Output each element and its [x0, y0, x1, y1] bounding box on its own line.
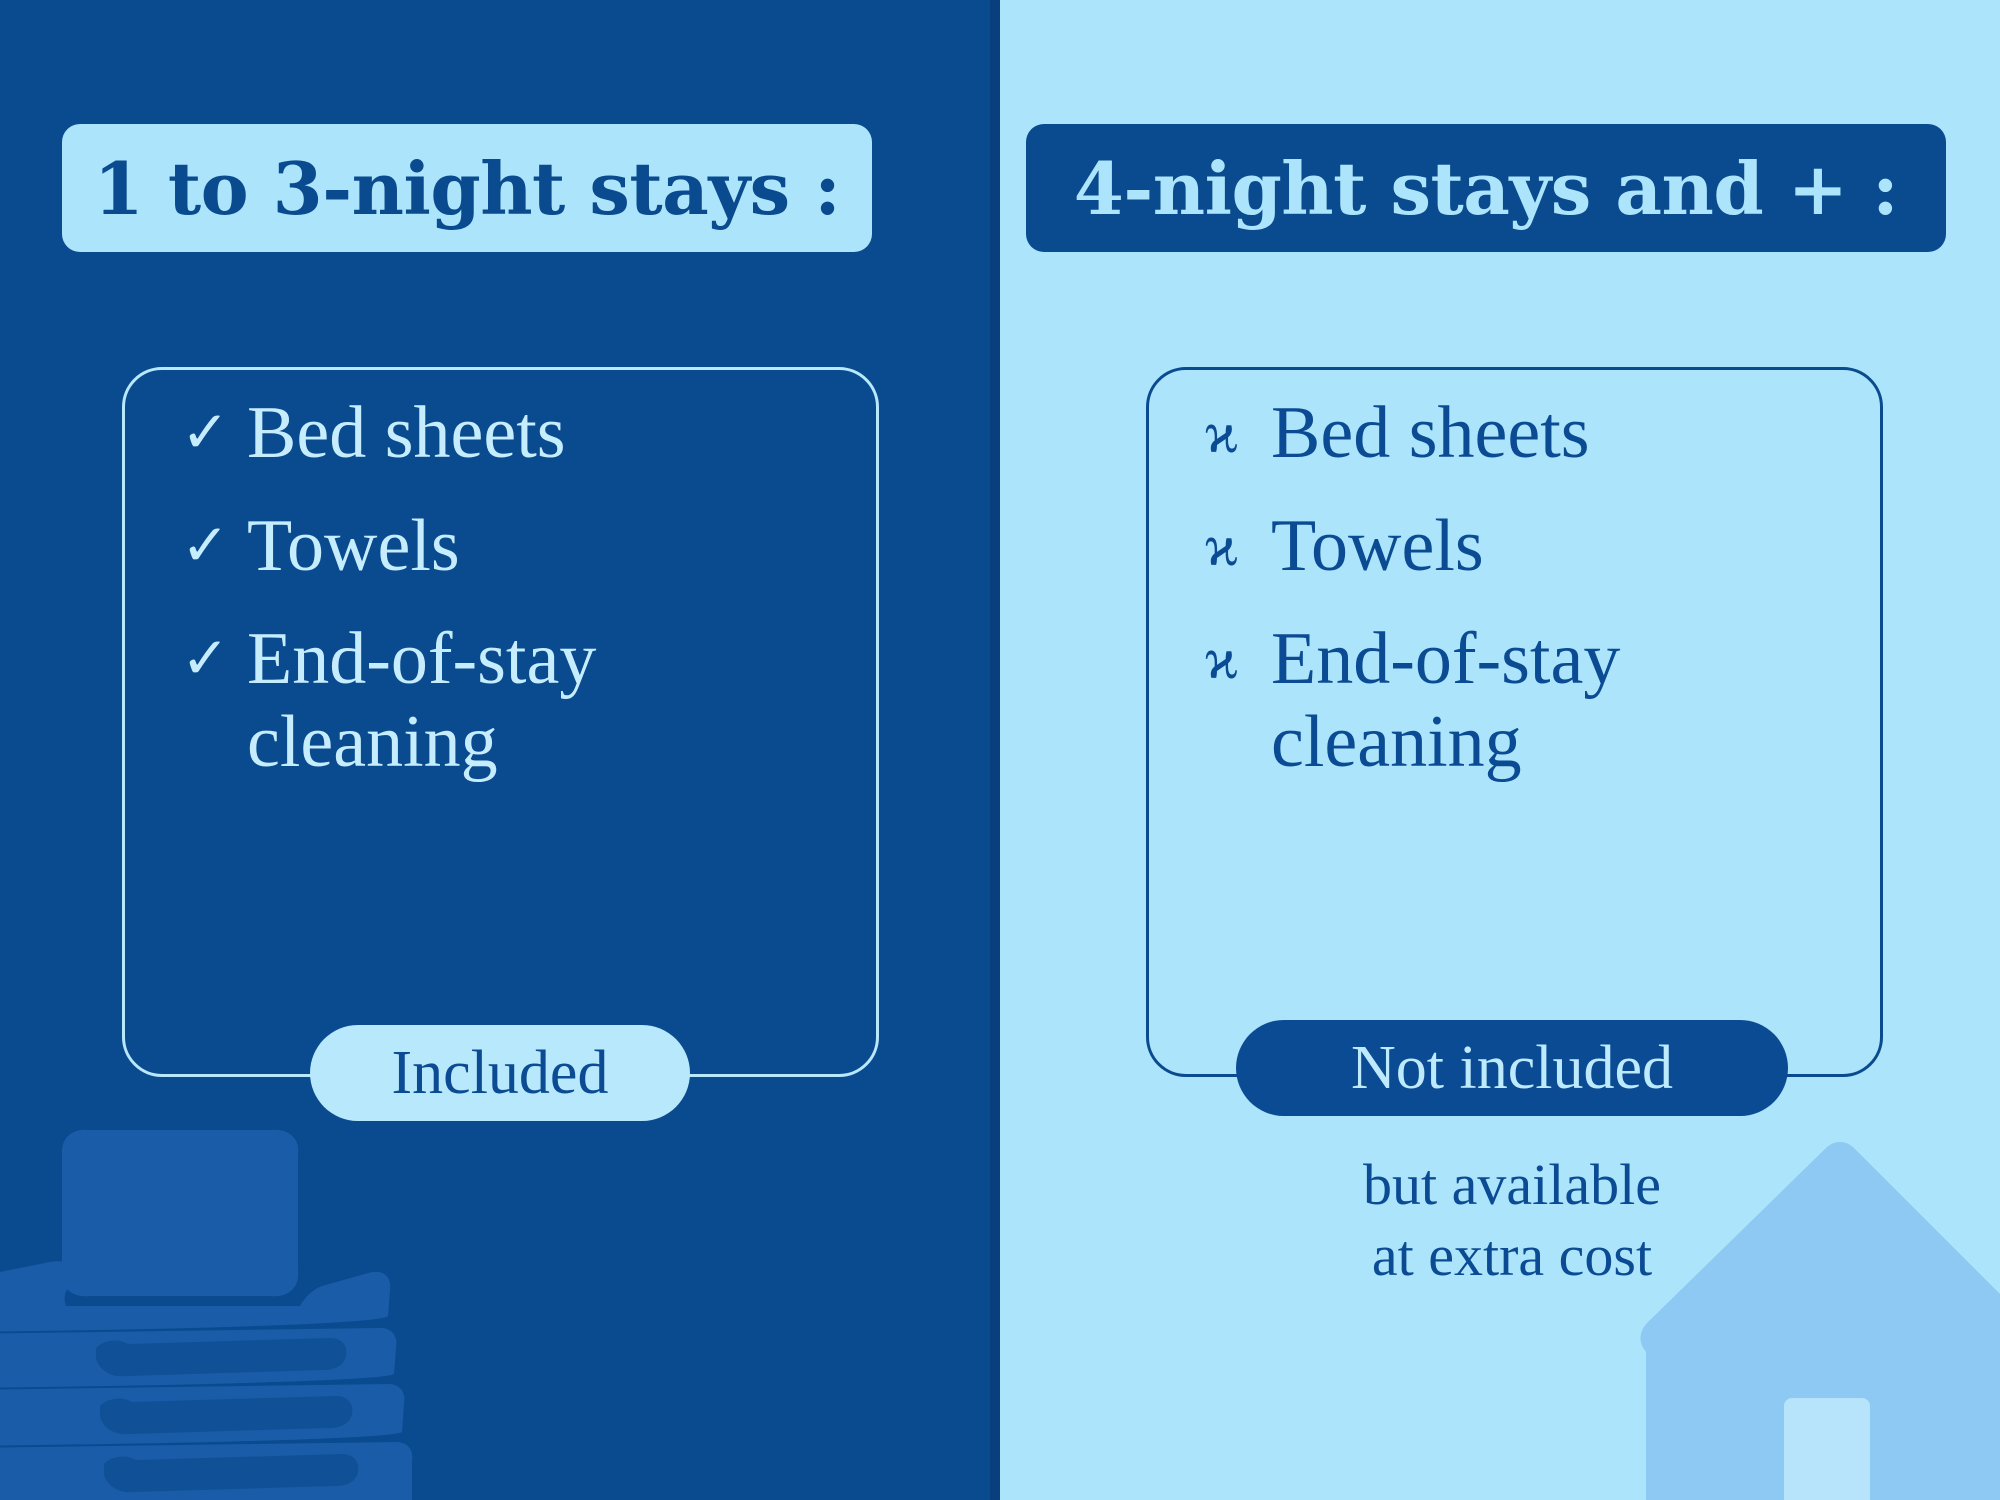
check-icon: ✓	[181, 392, 247, 474]
status-badge-not-included: Not included	[1236, 1020, 1788, 1116]
folded-linens-illustration	[0, 1120, 430, 1500]
status-badge-included: Included	[310, 1025, 690, 1121]
header-badge-short-stay: 1 to 3-night stays :	[62, 124, 872, 252]
list-item: ϰ Bed sheets	[1205, 392, 1850, 475]
list-item: ✓ Towels	[181, 505, 846, 588]
list-item-label: Bed sheets	[1271, 392, 1850, 475]
list-item-label: End-of-stay cleaning	[1271, 618, 1850, 784]
extra-cost-note: but available at extra cost	[1236, 1150, 1788, 1292]
check-icon: ✓	[181, 505, 247, 587]
cross-icon: ϰ	[1205, 505, 1271, 587]
list-item-label: Towels	[1271, 505, 1850, 588]
feature-list-short-stay: ✓ Bed sheets ✓ Towels ✓ End-of-stay clea…	[125, 392, 876, 814]
panel-long-stay: 4-night stays and + : ϰ Bed sheets ϰ Tow…	[1000, 0, 2000, 1500]
comparison-infographic: 1 to 3-night stays : ✓ Bed sheets ✓ Towe…	[0, 0, 2000, 1500]
list-item: ✓ End-of-stay cleaning	[181, 618, 846, 784]
list-item: ✓ Bed sheets	[181, 392, 846, 475]
list-item-label: Towels	[247, 505, 846, 588]
list-item: ϰ End-of-stay cleaning	[1205, 618, 1850, 784]
panel-divider	[990, 0, 1000, 1500]
cross-icon: ϰ	[1205, 392, 1271, 474]
feature-card-short-stay: ✓ Bed sheets ✓ Towels ✓ End-of-stay clea…	[122, 367, 879, 1077]
feature-card-long-stay: ϰ Bed sheets ϰ Towels ϰ End-of-stay clea…	[1146, 367, 1883, 1077]
panel-short-stay: 1 to 3-night stays : ✓ Bed sheets ✓ Towe…	[0, 0, 1000, 1500]
list-item-label: Bed sheets	[247, 392, 846, 475]
list-item-label: End-of-stay cleaning	[247, 618, 846, 784]
list-item: ϰ Towels	[1205, 505, 1850, 588]
extra-cost-note-line-2: at extra cost	[1236, 1221, 1788, 1292]
check-icon: ✓	[181, 618, 247, 700]
feature-list-long-stay: ϰ Bed sheets ϰ Towels ϰ End-of-stay clea…	[1149, 392, 1880, 814]
cross-icon: ϰ	[1205, 618, 1271, 700]
extra-cost-note-line-1: but available	[1236, 1150, 1788, 1221]
header-badge-long-stay: 4-night stays and + :	[1026, 124, 1946, 252]
